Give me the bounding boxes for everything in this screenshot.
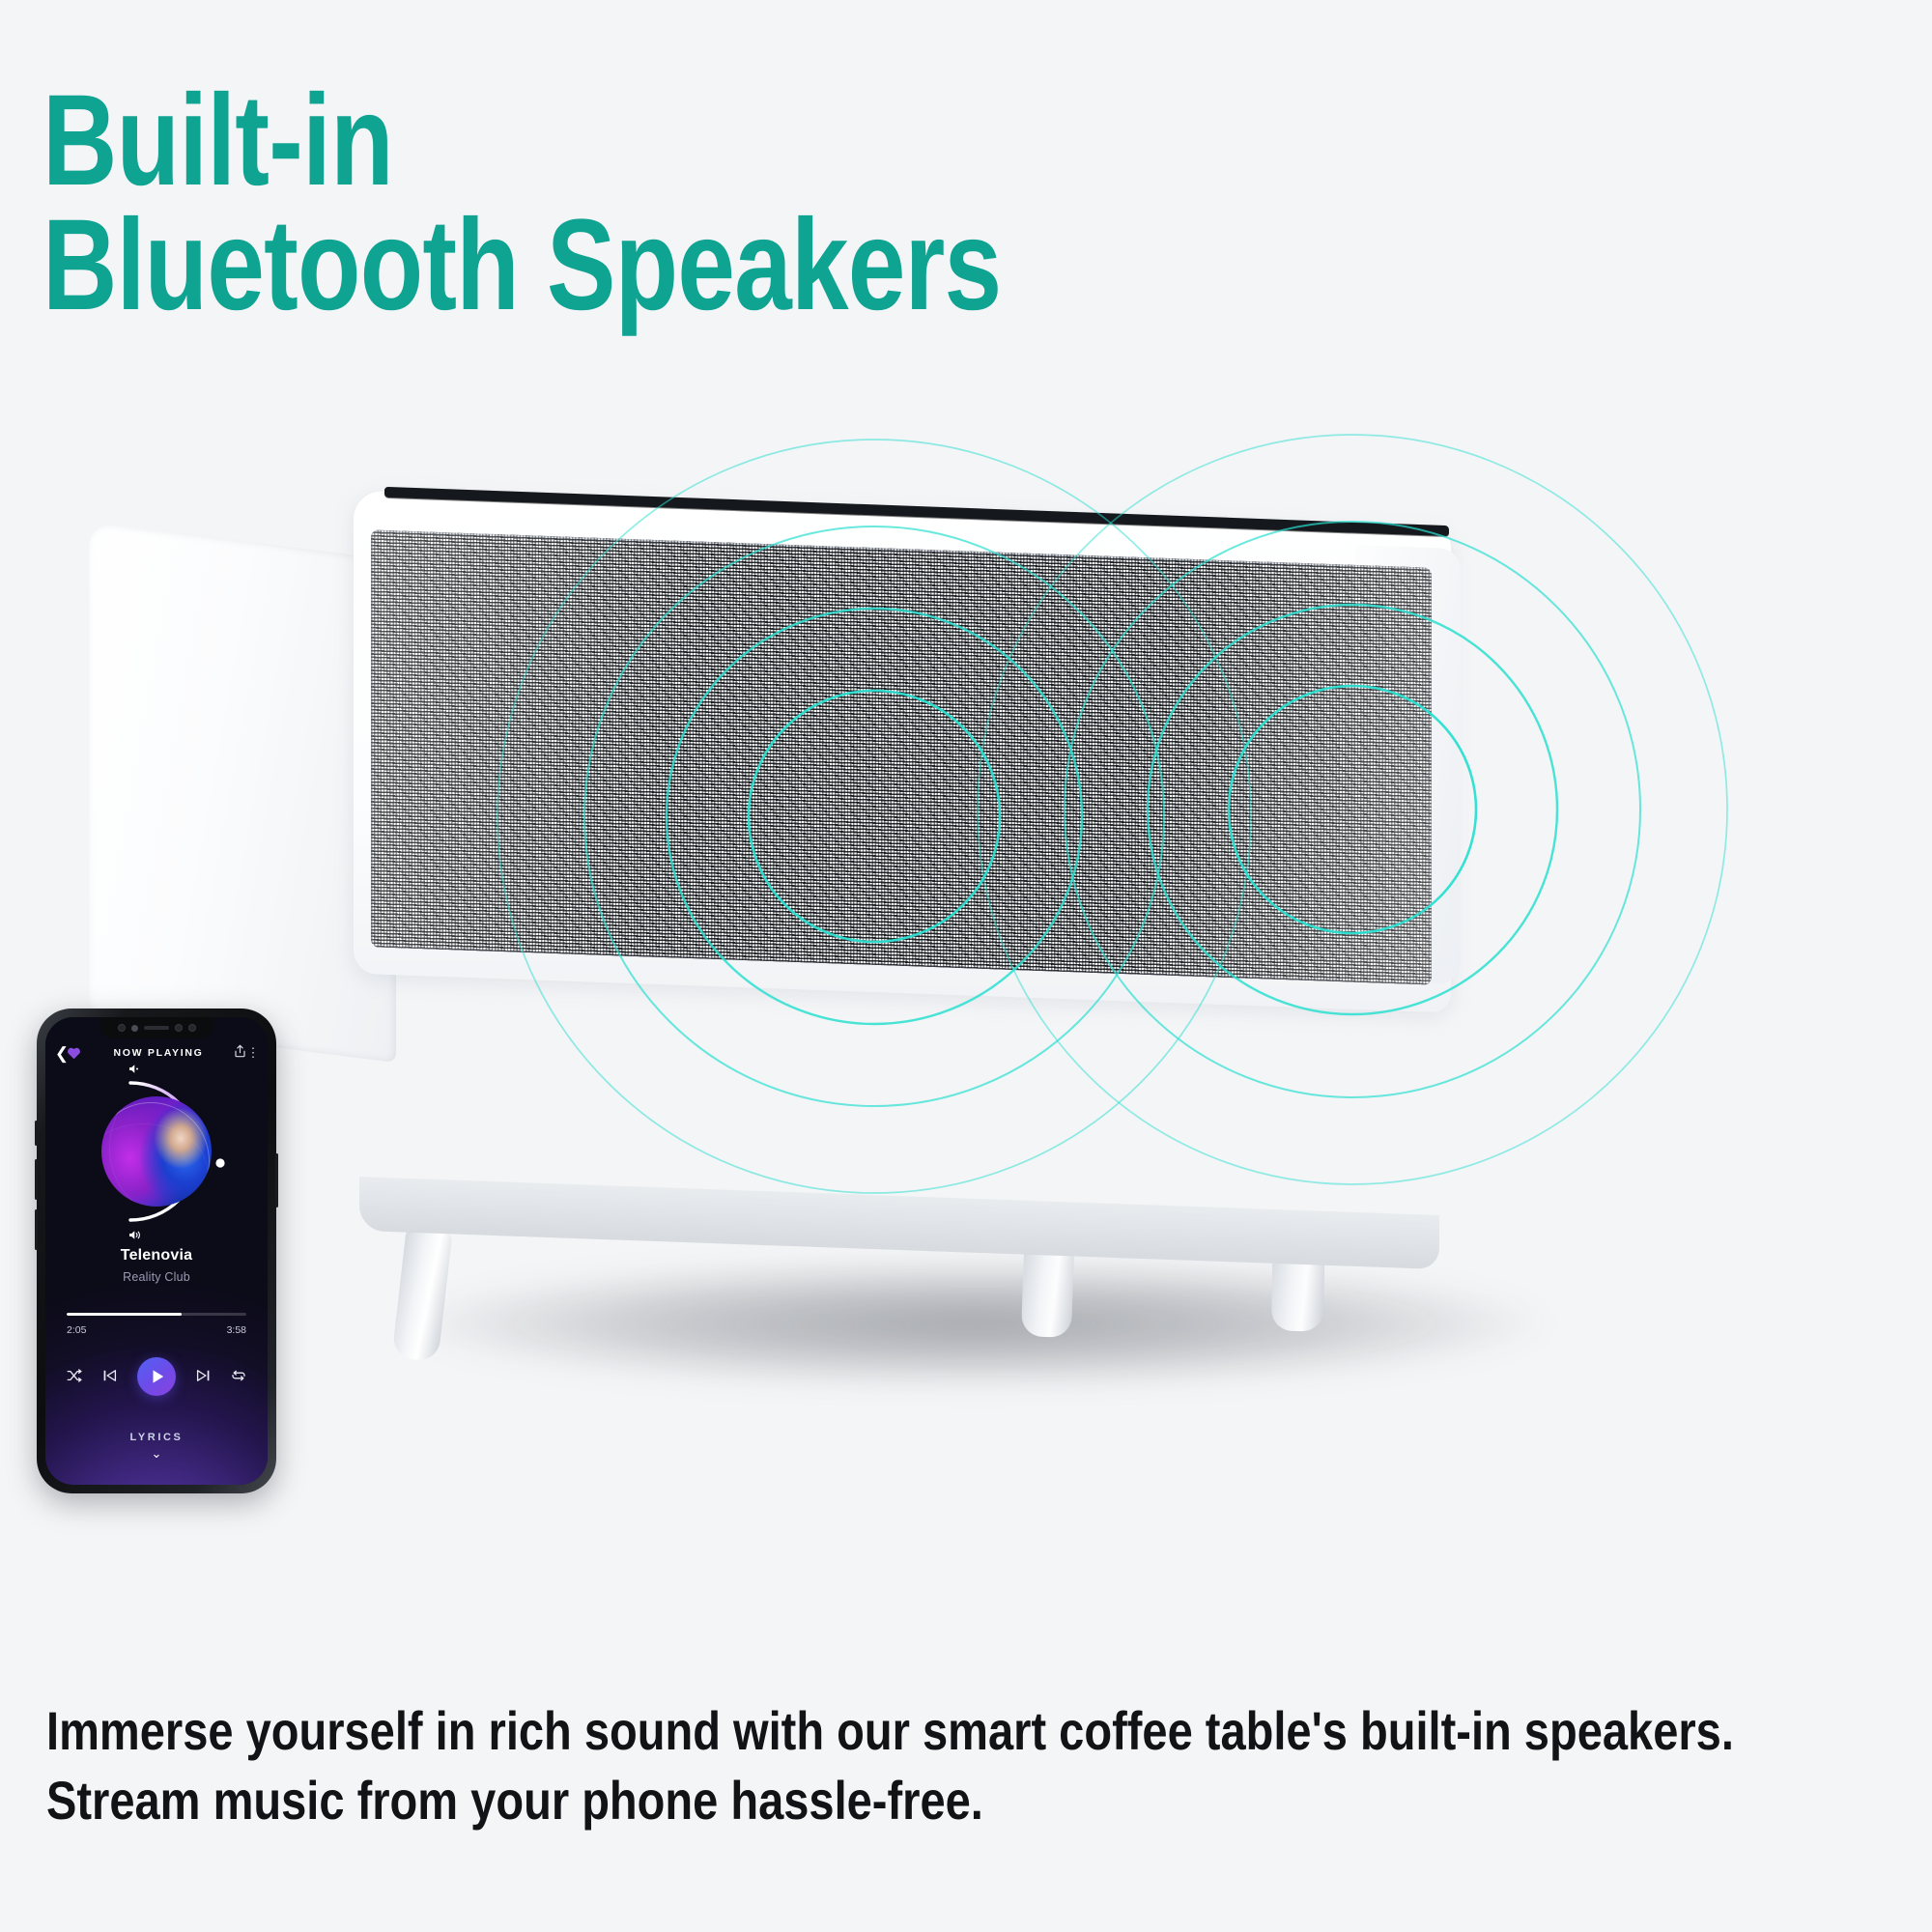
cabinet-left-panel <box>89 522 396 1063</box>
volume-low-icon[interactable] <box>128 1064 141 1077</box>
playback-controls <box>67 1357 246 1396</box>
earpiece-speaker-icon <box>144 1026 169 1030</box>
phone-silent-switch[interactable] <box>35 1121 38 1146</box>
speaker-leg <box>391 1227 452 1363</box>
description-paragraph: Immerse yourself in rich sound with our … <box>46 1696 1872 1834</box>
play-button[interactable] <box>137 1357 176 1396</box>
cabinet-underside <box>359 1177 1439 1269</box>
phone-notch <box>99 1017 213 1038</box>
phone-volume-down-button[interactable] <box>35 1209 38 1250</box>
now-playing-title: NOW PLAYING <box>78 1047 239 1059</box>
speaker-leg <box>1021 1220 1075 1338</box>
track-info: Telenovia Reality Club <box>45 1247 268 1284</box>
dot-projector-icon <box>188 1024 196 1032</box>
front-camera-icon <box>131 1025 138 1032</box>
track-title: Telenovia <box>45 1247 268 1264</box>
track-artist: Reality Club <box>45 1270 268 1284</box>
progress-times: 2:05 3:58 <box>67 1324 246 1336</box>
album-artwork[interactable] <box>101 1096 212 1207</box>
phone-volume-up-button[interactable] <box>35 1159 38 1200</box>
album-art-container <box>84 1079 229 1224</box>
cabinet-top-edge <box>384 487 1449 536</box>
skip-previous-icon[interactable] <box>102 1369 117 1384</box>
cabinet-front-panel <box>354 491 1451 1013</box>
elapsed-time: 2:05 <box>67 1324 86 1336</box>
share-icon[interactable] <box>234 1044 246 1061</box>
repeat-icon[interactable] <box>231 1369 246 1384</box>
progress-track[interactable] <box>67 1313 246 1316</box>
product-shadow <box>406 1261 1546 1386</box>
speaker-grille <box>371 529 1432 984</box>
smartphone-mockup: ❮ NOW PLAYING ⋮ <box>37 1009 276 1493</box>
phone-power-button[interactable] <box>275 1153 278 1207</box>
volume-high-icon[interactable] <box>128 1230 142 1243</box>
shuffle-icon[interactable] <box>67 1369 82 1384</box>
proximity-sensor-icon <box>118 1024 126 1032</box>
cabinet-right-panel <box>1354 545 1461 985</box>
promo-canvas: Built-in Bluetooth Speakers <box>0 0 1932 1932</box>
heart-filled-icon[interactable] <box>67 1046 81 1063</box>
ambient-light-sensor-icon <box>175 1024 183 1032</box>
phone-screen: ❮ NOW PLAYING ⋮ <box>45 1017 268 1485</box>
total-duration: 3:58 <box>227 1324 246 1336</box>
speaker-leg <box>1271 1213 1325 1332</box>
lyrics-section[interactable]: LYRICS ⌄ <box>45 1432 268 1460</box>
skip-next-icon[interactable] <box>196 1369 211 1384</box>
progress-fill <box>67 1313 182 1316</box>
page-title: Built-in Bluetooth Speakers <box>43 79 1001 327</box>
chevron-down-icon[interactable]: ⌄ <box>45 1447 268 1460</box>
playback-progress[interactable]: 2:05 3:58 <box>67 1313 246 1336</box>
lyrics-label: LYRICS <box>45 1432 268 1443</box>
